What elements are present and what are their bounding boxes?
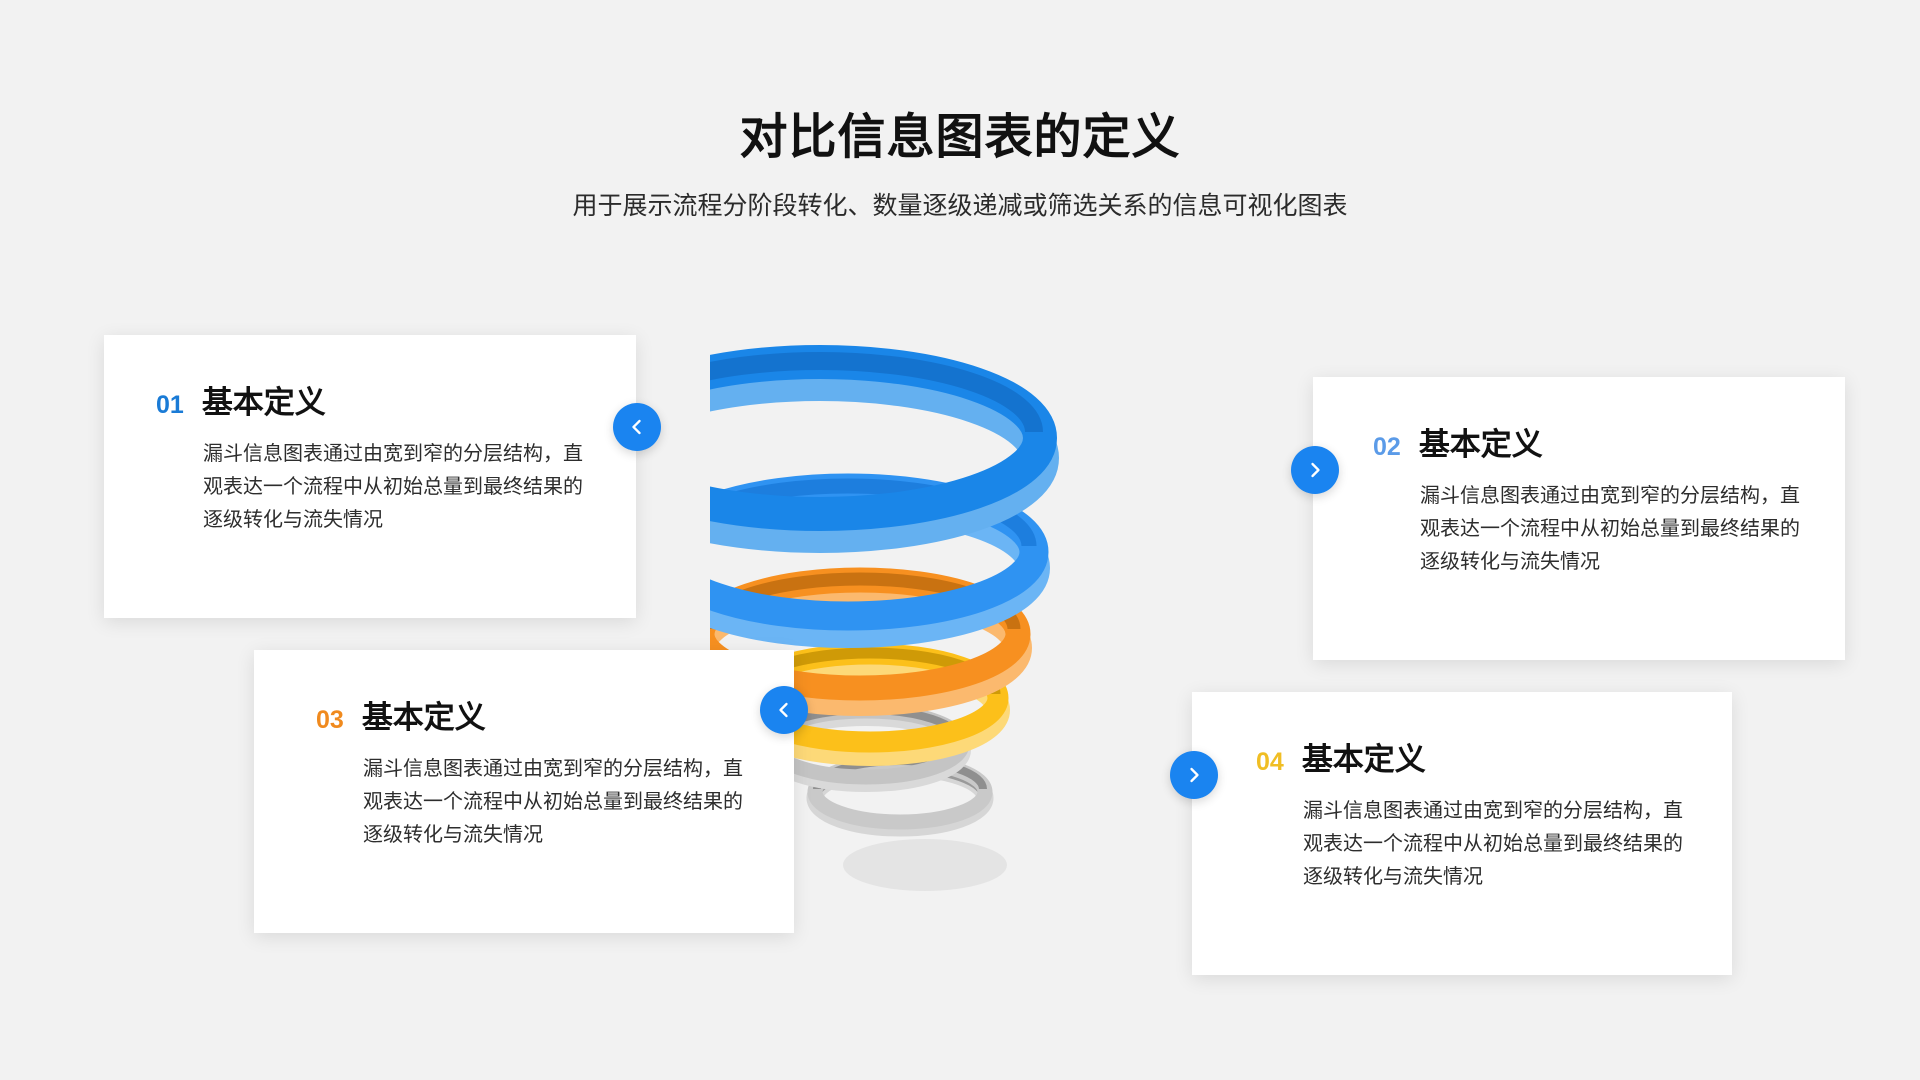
card-04-number: 04 — [1256, 750, 1284, 775]
card-01[interactable]: 01 基本定义 漏斗信息图表通过由宽到窄的分层结构，直观表达一个流程中从初始总量… — [104, 335, 636, 618]
chevron-left-icon[interactable] — [613, 403, 661, 451]
card-01-head: 01 基本定义 — [156, 387, 596, 418]
card-04-title: 基本定义 — [1302, 744, 1426, 775]
card-02-description: 漏斗信息图表通过由宽到窄的分层结构，直观表达一个流程中从初始总量到最终结果的逐级… — [1420, 480, 1806, 579]
card-04-head: 04 基本定义 — [1256, 744, 1692, 775]
chevron-left-icon[interactable] — [760, 686, 808, 734]
card-02[interactable]: 02 基本定义 漏斗信息图表通过由宽到窄的分层结构，直观表达一个流程中从初始总量… — [1313, 377, 1845, 660]
page-title: 对比信息图表的定义 — [0, 0, 1920, 165]
card-02-head: 02 基本定义 — [1373, 429, 1805, 460]
card-03-title: 基本定义 — [362, 702, 486, 733]
card-03[interactable]: 03 基本定义 漏斗信息图表通过由宽到窄的分层结构，直观表达一个流程中从初始总量… — [254, 650, 794, 933]
card-04-description: 漏斗信息图表通过由宽到窄的分层结构，直观表达一个流程中从初始总量到最终结果的逐级… — [1303, 795, 1689, 894]
page-subtitle: 用于展示流程分阶段转化、数量逐级递减或筛选关系的信息可视化图表 — [0, 165, 1920, 221]
card-03-description: 漏斗信息图表通过由宽到窄的分层结构，直观表达一个流程中从初始总量到最终结果的逐级… — [363, 753, 749, 852]
funnel-ring-1 — [710, 361, 1040, 534]
card-01-title: 基本定义 — [202, 387, 326, 418]
card-02-number: 02 — [1373, 435, 1401, 460]
card-03-head: 03 基本定义 — [316, 702, 754, 733]
chevron-right-icon[interactable] — [1170, 751, 1218, 799]
card-03-number: 03 — [316, 708, 344, 733]
chevron-right-icon[interactable] — [1291, 446, 1339, 494]
card-02-title: 基本定义 — [1419, 429, 1543, 460]
card-01-number: 01 — [156, 393, 184, 418]
card-04[interactable]: 04 基本定义 漏斗信息图表通过由宽到窄的分层结构，直观表达一个流程中从初始总量… — [1192, 692, 1732, 975]
card-01-description: 漏斗信息图表通过由宽到窄的分层结构，直观表达一个流程中从初始总量到最终结果的逐级… — [203, 438, 589, 537]
header: 对比信息图表的定义 用于展示流程分阶段转化、数量逐级递减或筛选关系的信息可视化图… — [0, 0, 1920, 221]
